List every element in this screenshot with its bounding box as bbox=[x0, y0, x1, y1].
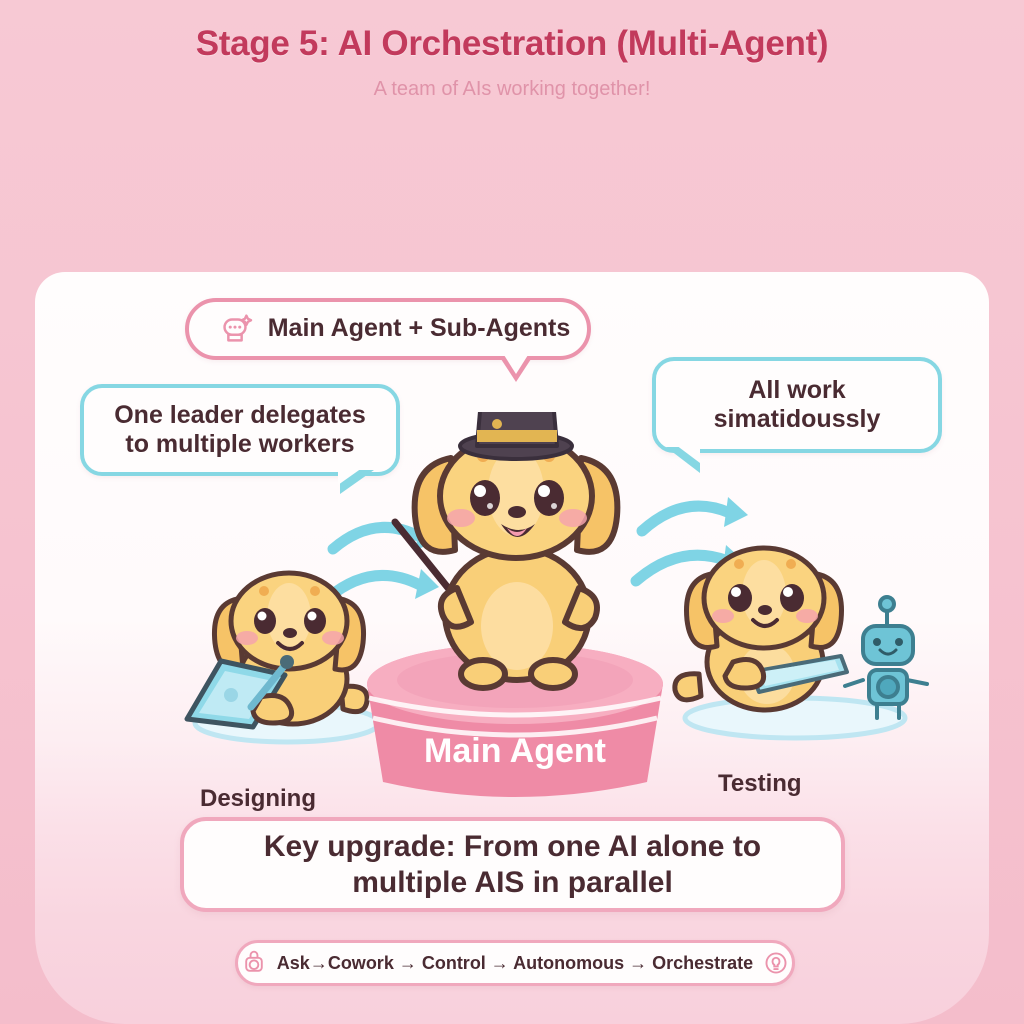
sub-agent-tester-illustration bbox=[655, 522, 935, 742]
callout-one-leader-text: One leader delegates to multiple workers bbox=[114, 401, 366, 460]
robot-head-icon bbox=[216, 310, 254, 348]
callout-all-work-text: All work simatidoussly bbox=[714, 376, 881, 435]
journey-steps-text: Ask→Cowork → Control → Autonomous → Orch… bbox=[277, 953, 753, 974]
page-title: Stage 5: AI Orchestration (Multi-Agent) bbox=[0, 24, 1024, 64]
bubble-tail bbox=[666, 447, 700, 473]
content-card: Main Agent bbox=[35, 272, 989, 1024]
key-upgrade-box: Key upgrade: From one AI alone to multip… bbox=[180, 817, 845, 912]
callout-one-leader[interactable]: One leader delegates to multiple workers bbox=[80, 384, 400, 476]
header-banner: Stage 5: AI Orchestration (Multi-Agent) … bbox=[0, 0, 1024, 272]
robot-badge-icon bbox=[241, 950, 267, 976]
top-hat bbox=[460, 412, 572, 459]
bubble-tail bbox=[340, 470, 374, 494]
callout-main-agent[interactable]: Main Agent + Sub-Agents bbox=[185, 298, 591, 360]
main-agent-illustration: Main Agent bbox=[365, 412, 665, 812]
callout-main-agent-text: Main Agent + Sub-Agents bbox=[268, 314, 571, 344]
podium-label: Main Agent bbox=[424, 732, 606, 770]
label-designing: Designing bbox=[200, 785, 316, 813]
callout-all-work[interactable]: All work simatidoussly bbox=[652, 357, 942, 453]
lightbulb-circle-icon bbox=[763, 950, 789, 976]
label-testing: Testing bbox=[718, 770, 802, 798]
key-upgrade-text: Key upgrade: From one AI alone to multip… bbox=[264, 829, 761, 901]
bubble-tail bbox=[499, 356, 533, 382]
journey-progress-pill[interactable]: Ask→Cowork → Control → Autonomous → Orch… bbox=[235, 940, 795, 986]
page-subtitle: A team of AIs working together! bbox=[0, 78, 1024, 101]
